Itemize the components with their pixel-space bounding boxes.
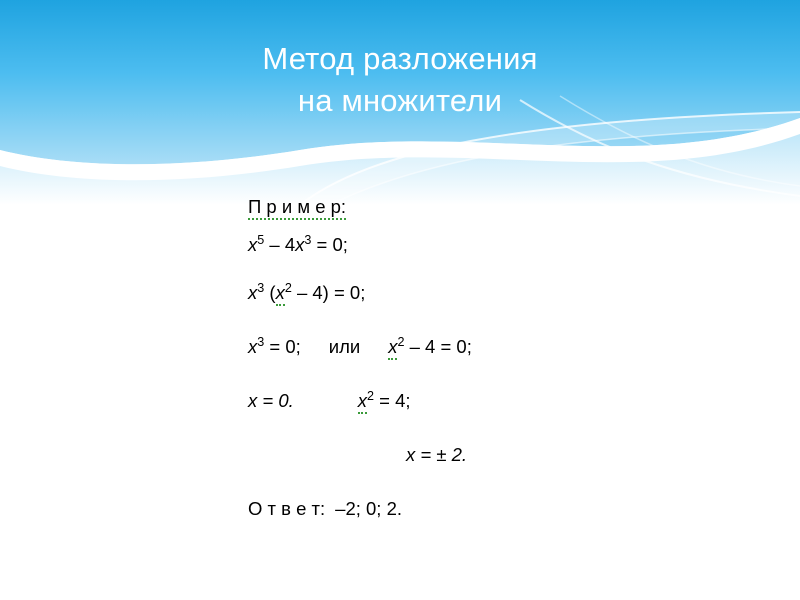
eq2-exp2: 2 bbox=[285, 281, 292, 295]
eq2-tail: – 4) = 0; bbox=[292, 282, 366, 303]
eq4-left: x = 0. bbox=[248, 390, 294, 411]
eq4-tail: = 4; bbox=[374, 390, 411, 411]
eq1-base2: x bbox=[295, 234, 304, 255]
eq3-base1: x bbox=[248, 336, 257, 357]
page-title: Метод разложения на множители bbox=[0, 38, 800, 122]
spacer-3 bbox=[248, 374, 778, 390]
answer-label: О т в е т: bbox=[248, 498, 325, 519]
eq3-mid: = 0; bbox=[264, 336, 301, 357]
spacer-1 bbox=[248, 272, 778, 282]
eq5-value: x = ± 2. bbox=[406, 444, 467, 465]
answer-value: –2; 0; 2. bbox=[335, 498, 402, 519]
equation-line-3: x3 = 0;илиx2 – 4 = 0; bbox=[248, 336, 778, 374]
equation-line-5: x = ± 2. bbox=[248, 444, 778, 482]
page-title-line-2: на множители bbox=[0, 80, 800, 122]
eq1-tail: = 0; bbox=[311, 234, 348, 255]
spacer-2 bbox=[248, 320, 778, 336]
slide-body: П р и м е р: x5 – 4x3 = 0; x3 (x2 – 4) =… bbox=[248, 196, 778, 536]
page-title-line-1: Метод разложения bbox=[262, 41, 537, 76]
equation-line-2: x3 (x2 – 4) = 0; bbox=[248, 282, 778, 320]
eq2-mid: ( bbox=[264, 282, 275, 303]
answer-line: О т в е т:–2; 0; 2. bbox=[248, 498, 778, 536]
spacer-5 bbox=[248, 482, 778, 498]
spacer-4 bbox=[248, 428, 778, 444]
eq1-base1: x bbox=[248, 234, 257, 255]
eq3-tail: – 4 = 0; bbox=[404, 336, 471, 357]
example-label-line: П р и м е р: bbox=[248, 196, 778, 234]
eq2-base2: x bbox=[276, 282, 285, 306]
equation-line-1: x5 – 4x3 = 0; bbox=[248, 234, 778, 272]
eq3-connector: или bbox=[329, 336, 360, 357]
example-label: П р и м е р: bbox=[248, 196, 346, 220]
equation-line-4: x = 0.x2 = 4; bbox=[248, 390, 778, 428]
slide: Метод разложения на множители П р и м е … bbox=[0, 0, 800, 600]
eq2-base1: x bbox=[248, 282, 257, 303]
eq4-base2: x bbox=[358, 390, 367, 414]
eq4-exp2: 2 bbox=[367, 389, 374, 403]
eq1-mid: – 4 bbox=[264, 234, 295, 255]
